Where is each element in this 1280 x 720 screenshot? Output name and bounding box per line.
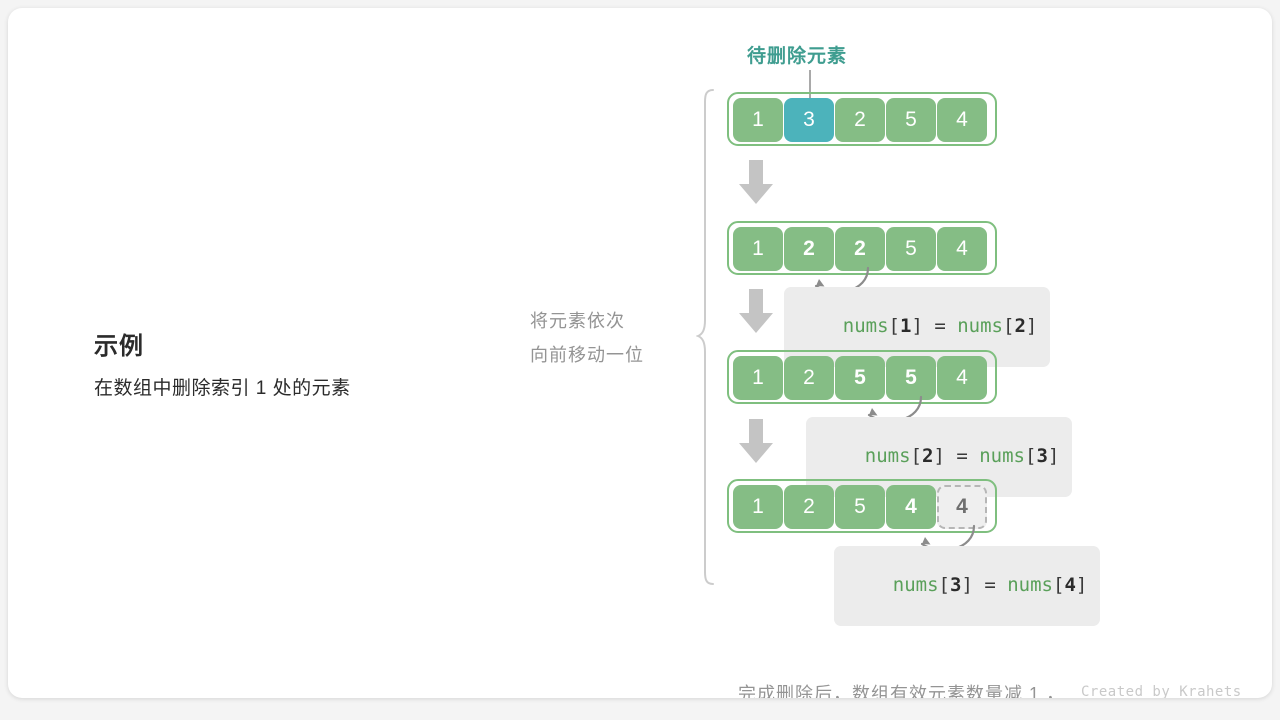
down-arrow-icon	[739, 160, 773, 204]
shift-annotation-line1: 将元素依次	[530, 304, 700, 338]
array-cell[interactable]: 5	[886, 98, 936, 142]
array-cell-invalid[interactable]: 4	[937, 485, 987, 529]
code-array-name: nums	[957, 315, 1003, 337]
code-bracket-close: ]	[1026, 315, 1037, 337]
array-cell-updated[interactable]: 2	[784, 227, 834, 271]
array-cell[interactable]: 1	[733, 356, 783, 400]
array-cell-highlighted[interactable]: 3	[784, 98, 834, 142]
example-description: 在数组中删除索引 1 处的元素	[94, 373, 494, 400]
grouping-brace	[696, 88, 718, 586]
code-index: 3	[950, 574, 961, 596]
array-cell-source[interactable]: 2	[835, 227, 885, 271]
pending-element-label: 待删除元素	[747, 41, 847, 68]
code-array-name: nums	[865, 445, 911, 467]
result-annotation-line1: 完成删除后，数组有效元素数量减 1 ，	[738, 676, 1065, 698]
example-block: 示例 在数组中删除索引 1 处的元素	[94, 326, 494, 400]
code-bracket-open: [	[911, 445, 922, 467]
down-arrow-icon	[739, 419, 773, 463]
array-row: 1 2 5 4 4	[727, 479, 997, 533]
shift-annotation-line2: 向前移动一位	[530, 338, 700, 372]
array-cell-updated[interactable]: 5	[835, 356, 885, 400]
code-bracket-open: [	[1025, 445, 1036, 467]
array-row: 1 2 2 5 4	[727, 221, 997, 275]
array-cell[interactable]: 5	[835, 485, 885, 529]
code-array-name: nums	[843, 315, 889, 337]
example-title: 示例	[94, 326, 494, 361]
code-bracket-open: [	[1003, 315, 1014, 337]
figure-card: 示例 在数组中删除索引 1 处的元素 将元素依次 向前移动一位 待删除元素 1 …	[8, 8, 1272, 698]
code-bracket-close: ]	[911, 315, 922, 337]
code-operator: =	[973, 574, 1007, 596]
down-arrow-icon	[739, 289, 773, 333]
code-bracket-open: [	[889, 315, 900, 337]
code-operator: =	[945, 445, 979, 467]
array-cell[interactable]: 2	[835, 98, 885, 142]
code-index: 3	[1036, 445, 1047, 467]
code-array-name: nums	[979, 445, 1025, 467]
array-row: 1 3 2 5 4	[727, 92, 997, 146]
code-index: 2	[1014, 315, 1025, 337]
array-cell[interactable]: 4	[937, 227, 987, 271]
array-cell[interactable]: 2	[784, 485, 834, 529]
array-cell[interactable]: 1	[733, 485, 783, 529]
shift-annotation: 将元素依次 向前移动一位	[530, 304, 700, 372]
array-cell[interactable]: 4	[937, 98, 987, 142]
array-cell[interactable]: 1	[733, 227, 783, 271]
result-annotation: 完成删除后，数组有效元素数量减 1 ， 末尾元素 4 已无意义，无需特意修改	[738, 604, 1065, 698]
code-operator: =	[923, 315, 957, 337]
code-index: 1	[900, 315, 911, 337]
array-cell[interactable]: 5	[886, 227, 936, 271]
array-cell[interactable]: 2	[784, 356, 834, 400]
array-cell[interactable]: 1	[733, 98, 783, 142]
code-index: 4	[1064, 574, 1075, 596]
code-bracket-close: ]	[1076, 574, 1087, 596]
array-cell[interactable]: 4	[937, 356, 987, 400]
code-array-name: nums	[893, 574, 939, 596]
code-bracket-close: ]	[961, 574, 972, 596]
code-bracket-close: ]	[1048, 445, 1059, 467]
code-bracket-open: [	[939, 574, 950, 596]
code-array-name: nums	[1007, 574, 1053, 596]
code-bracket-close: ]	[933, 445, 944, 467]
array-cell-source[interactable]: 5	[886, 356, 936, 400]
code-bracket-open: [	[1053, 574, 1064, 596]
array-cell-updated[interactable]: 4	[886, 485, 936, 529]
code-index: 2	[922, 445, 933, 467]
credit-text: Created by Krahets	[1081, 684, 1242, 698]
array-row: 1 2 5 5 4	[727, 350, 997, 404]
